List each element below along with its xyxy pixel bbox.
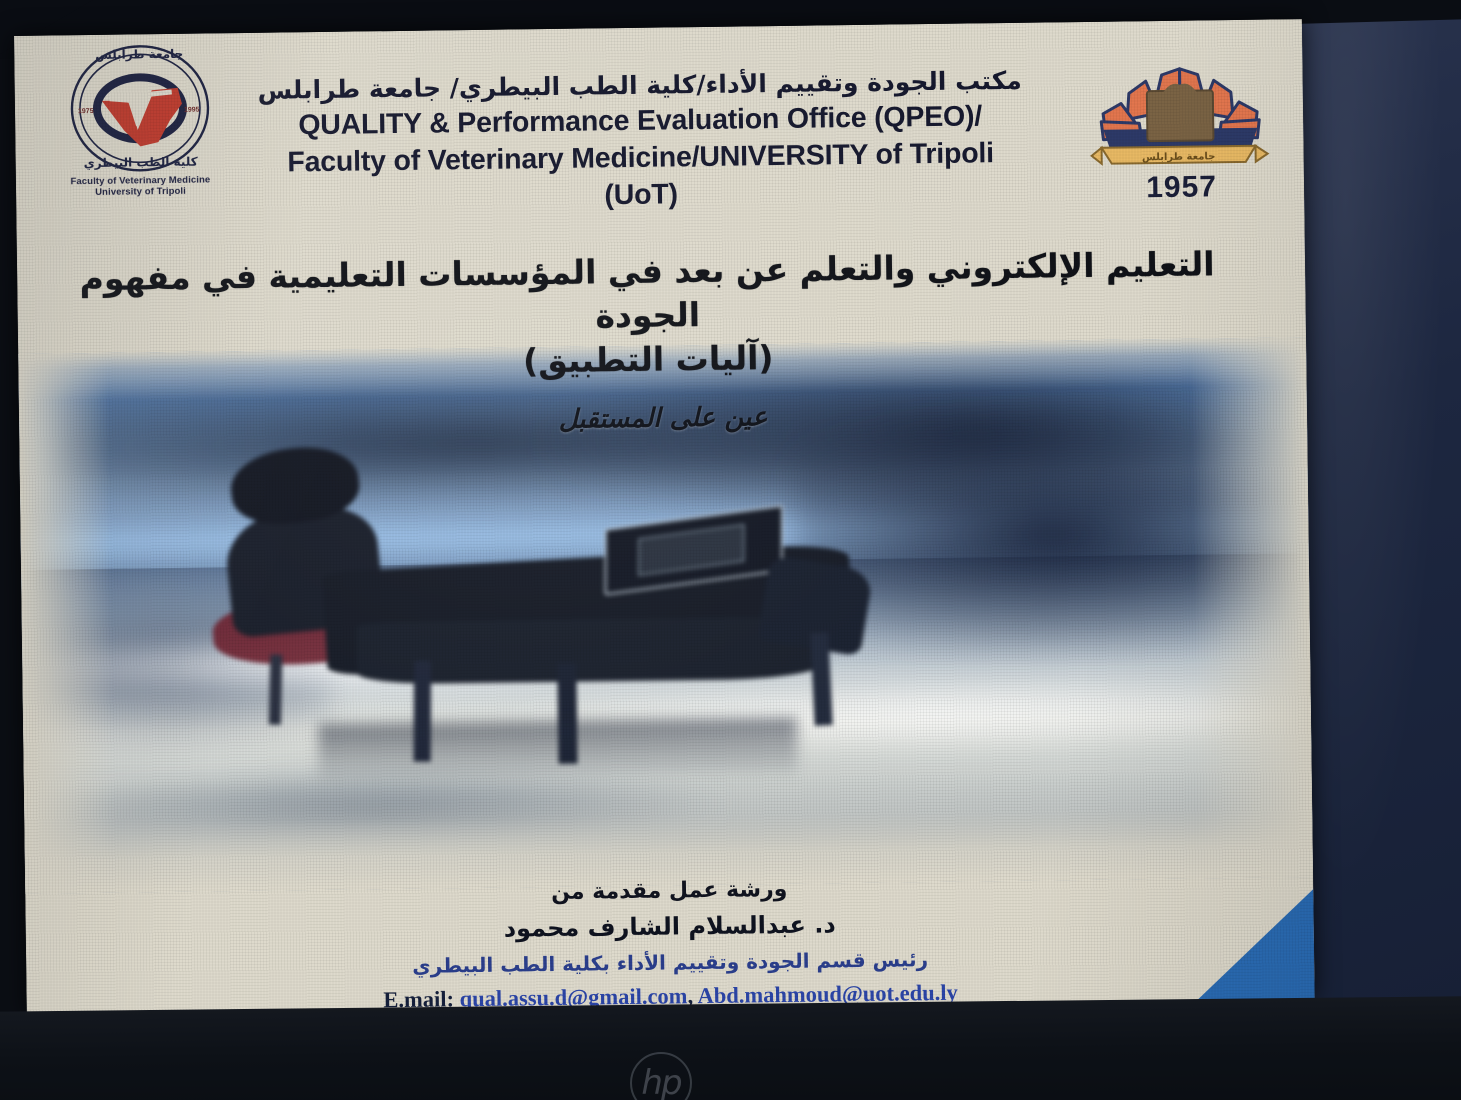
header-title-block: مكتب الجودة وتقييم الأداء/كلية الطب البي… bbox=[210, 64, 1072, 220]
faculty-seal-caption-line2: University of Tripoli bbox=[71, 186, 211, 199]
faculty-seal-caption-line1: Faculty of Veterinary Medicine bbox=[70, 174, 210, 187]
slide-header: جامعة طرابلس كلية الطب البيطري 1975 1995… bbox=[14, 19, 1305, 236]
desk-surface bbox=[1296, 0, 1461, 1015]
silhouette-chair-leg bbox=[269, 655, 282, 725]
laptop-photo-scene: جامعة طرابلس كلية الطب البيطري 1975 1995… bbox=[0, 0, 1461, 1100]
university-founding-year: 1957 bbox=[1084, 169, 1279, 206]
silhouette-monitor-screen bbox=[638, 524, 745, 576]
svg-text:1995: 1995 bbox=[183, 107, 199, 114]
slide-accent-triangle bbox=[1195, 889, 1314, 1001]
svg-text:جامعة طرابلس: جامعة طرابلس bbox=[1142, 151, 1216, 163]
svg-text:جامعة طرابلس: جامعة طرابلس bbox=[95, 47, 183, 62]
slide-title-line-1: التعليم الإلكتروني والتعلم عن بعد في الم… bbox=[79, 244, 1214, 335]
svg-text:1975: 1975 bbox=[77, 108, 93, 115]
svg-text:كلية الطب البيطري: كلية الطب البيطري bbox=[83, 155, 197, 170]
university-of-tripoli-emblem-icon: جامعة طرابلس 1957 bbox=[1082, 61, 1299, 224]
silhouette-water-reflection bbox=[318, 718, 798, 786]
faculty-seal-caption: Faculty of Veterinary Medicine Universit… bbox=[70, 174, 210, 198]
presentation-slide[interactable]: جامعة طرابلس كلية الطب البيطري 1975 1995… bbox=[14, 19, 1315, 1016]
slide-title: التعليم الإلكتروني والتعلم عن بعد في الم… bbox=[77, 242, 1219, 390]
faculty-seal-logo: جامعة طرابلس كلية الطب البيطري 1975 1995… bbox=[56, 41, 223, 223]
slide-photo: عين على المستقبل bbox=[18, 337, 1313, 894]
photo-person-at-desk-silhouette bbox=[187, 428, 991, 827]
slide-footer: ورشة عمل مقدمة من د. عبدالسلام الشارف مح… bbox=[25, 867, 1315, 1016]
faculty-of-veterinary-medicine-seal-icon: جامعة طرابلس كلية الطب البيطري 1975 1995 bbox=[65, 41, 215, 175]
laptop-bezel-bottom bbox=[0, 995, 1461, 1100]
